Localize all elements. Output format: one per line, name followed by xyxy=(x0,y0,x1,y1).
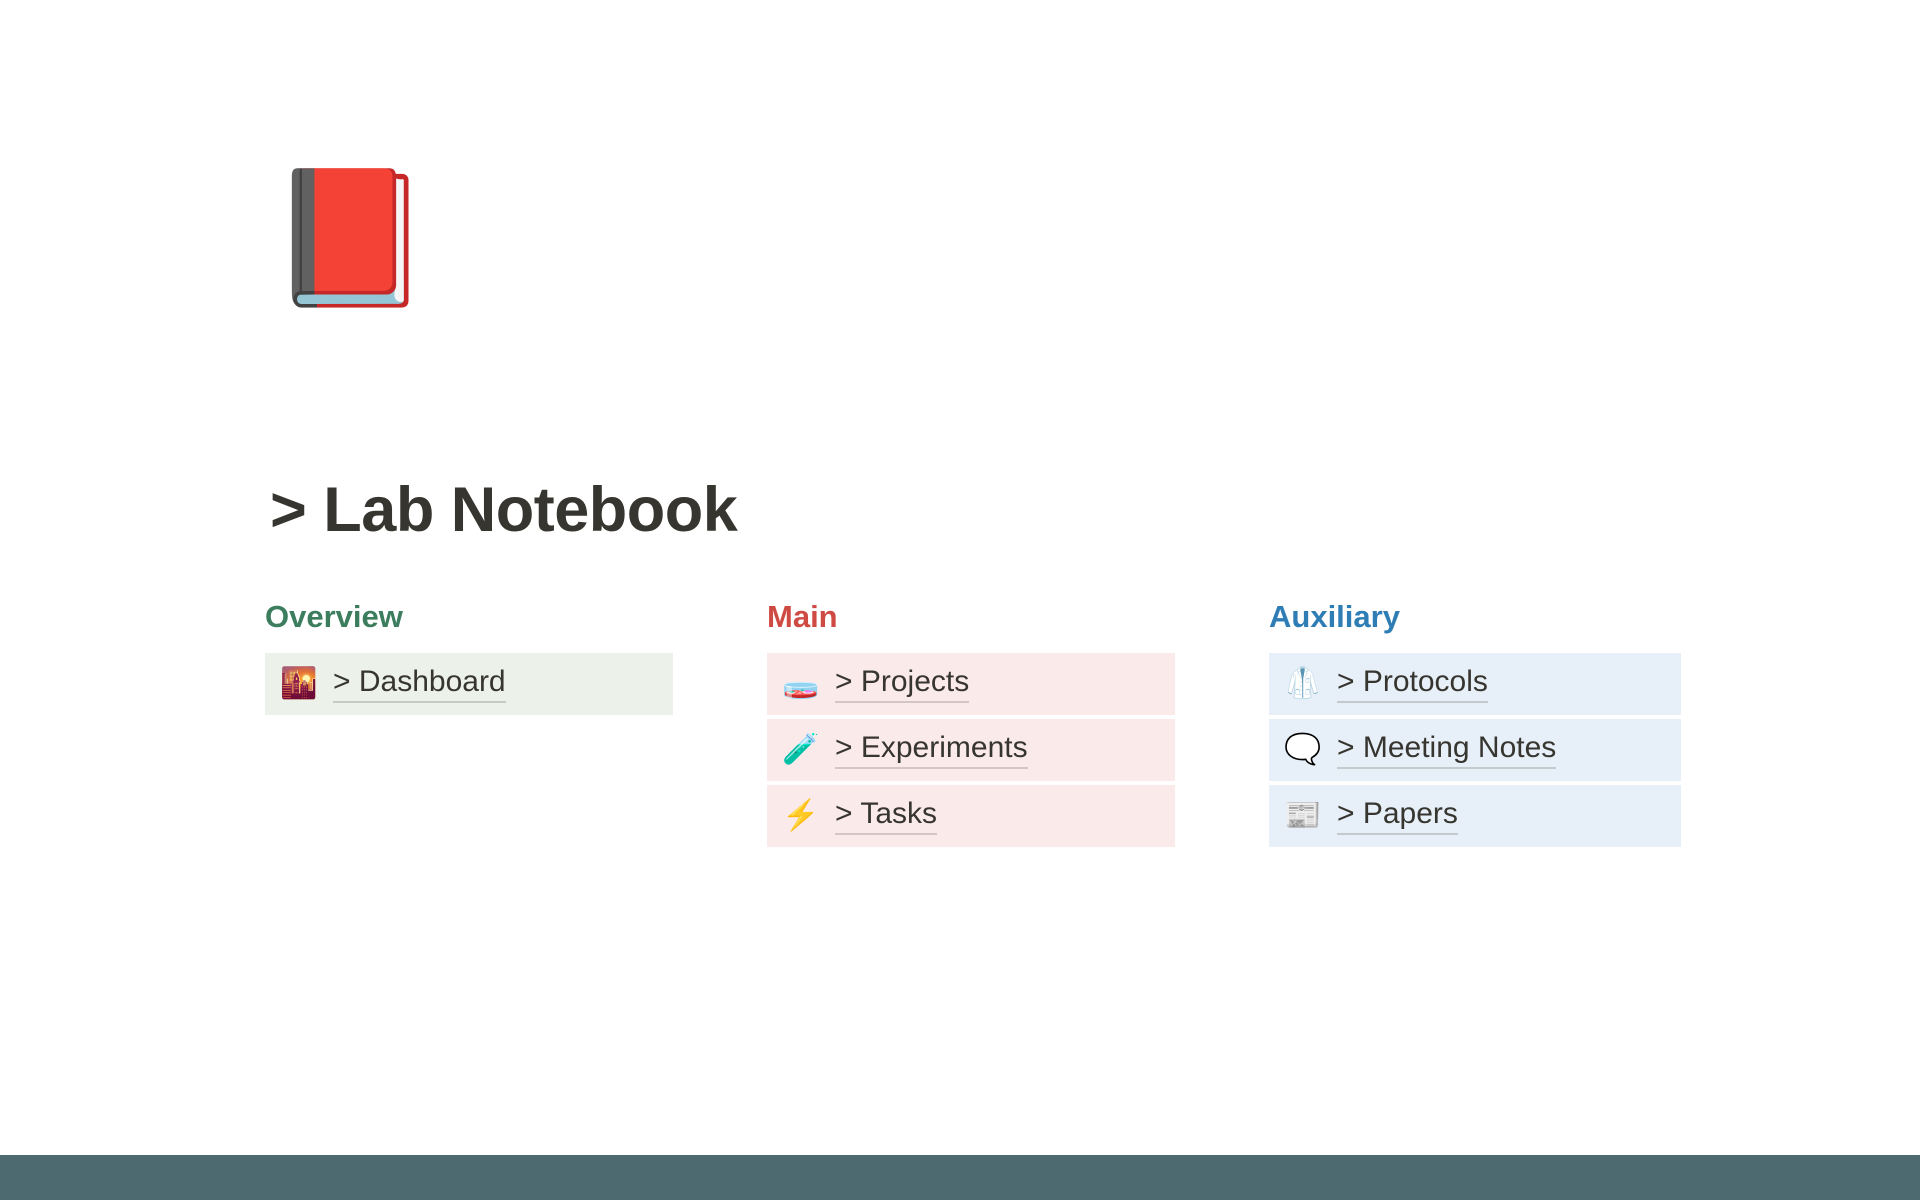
list-item-label: > Tasks xyxy=(835,797,937,836)
list-item-projects[interactable]: 🧫 > Projects xyxy=(767,653,1175,715)
lab-notebook-page: 📕 > Lab Notebook Overview 🌇 > Dashboard … xyxy=(0,0,1920,1200)
sunset-over-buildings-icon: 🌇 xyxy=(279,669,319,699)
column-main: Main 🧫 > Projects 🧪 > Experiments ⚡ > Ta… xyxy=(767,600,1175,847)
list-item-papers[interactable]: 📰 > Papers xyxy=(1269,785,1681,847)
list-item-label: > Papers xyxy=(1337,797,1458,836)
list-item-dashboard[interactable]: 🌇 > Dashboard xyxy=(265,653,673,715)
item-list-auxiliary: 🥼 > Protocols 🗨️ > Meeting Notes 📰 > Pap… xyxy=(1269,653,1681,847)
column-grid: Overview 🌇 > Dashboard Main 🧫 > Projects… xyxy=(265,600,1685,847)
speech-balloon-icon: 🗨️ xyxy=(1283,735,1323,765)
column-header-main: Main xyxy=(767,600,1175,634)
list-item-label: > Meeting Notes xyxy=(1337,731,1556,770)
footer-bar xyxy=(0,1155,1920,1200)
page-title: > Lab Notebook xyxy=(270,474,737,546)
column-header-overview: Overview xyxy=(265,600,673,634)
lab-coat-icon: 🥼 xyxy=(1283,669,1323,699)
item-list-main: 🧫 > Projects 🧪 > Experiments ⚡ > Tasks xyxy=(767,653,1175,847)
test-tube-icon: 🧪 xyxy=(781,735,821,765)
high-voltage-icon: ⚡ xyxy=(781,801,821,831)
list-item-label: > Dashboard xyxy=(333,665,506,704)
item-list-overview: 🌇 > Dashboard xyxy=(265,653,673,715)
list-item-protocols[interactable]: 🥼 > Protocols xyxy=(1269,653,1681,715)
petri-dish-icon: 🧫 xyxy=(781,669,821,699)
column-header-auxiliary: Auxiliary xyxy=(1269,600,1681,634)
list-item-meeting-notes[interactable]: 🗨️ > Meeting Notes xyxy=(1269,719,1681,781)
closed-book-emoji: 📕 xyxy=(268,172,432,304)
list-item-tasks[interactable]: ⚡ > Tasks xyxy=(767,785,1175,847)
column-auxiliary: Auxiliary 🥼 > Protocols 🗨️ > Meeting Not… xyxy=(1269,600,1681,847)
newspaper-icon: 📰 xyxy=(1283,801,1323,831)
list-item-experiments[interactable]: 🧪 > Experiments xyxy=(767,719,1175,781)
column-overview: Overview 🌇 > Dashboard xyxy=(265,600,673,715)
list-item-label: > Experiments xyxy=(835,731,1028,770)
list-item-label: > Projects xyxy=(835,665,969,704)
list-item-label: > Protocols xyxy=(1337,665,1488,704)
